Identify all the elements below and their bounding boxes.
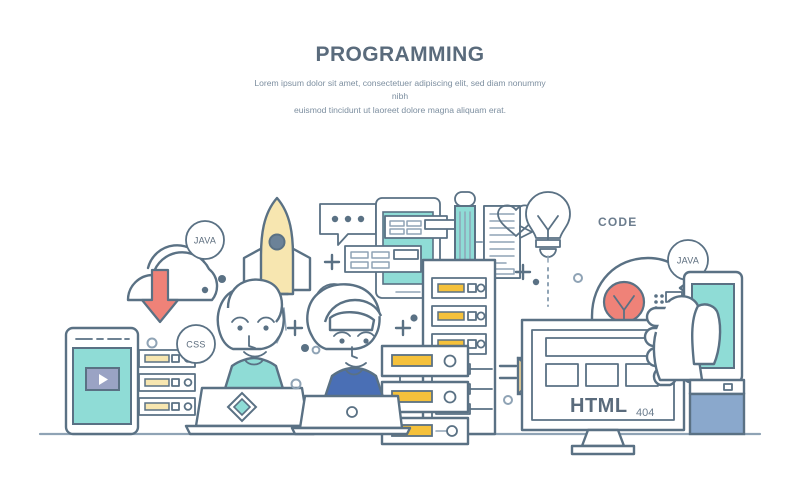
plus-decor-3 [288,321,302,335]
screen-html-label: HTML [570,395,628,417]
label-code: CODE [598,215,637,229]
laptop-right [292,396,410,434]
page-header: PROGRAMMING Lorem ipsum dolor sit amet, … [0,0,800,117]
tablet-video-player [66,328,138,434]
badge-java-right-label: JAVA [677,256,699,266]
illustration-page: PROGRAMMING Lorem ipsum dolor sit amet, … [0,0,800,503]
badge-css-left-label: CSS [186,340,205,350]
developer-person-right [307,284,384,400]
subtitle-line-1: Lorem ipsum dolor sit amet, consectetuer… [254,78,545,101]
dot-decor-4 [218,275,226,283]
badge-java-left: JAVA [186,221,224,259]
illustration-stage: .s { fill:none; stroke:#5a7184; stroke-w… [0,150,800,470]
dot-decor-8 [410,314,417,321]
plus-decor-4 [396,321,410,335]
dot-decor-6 [301,344,309,352]
badge-css-left: CSS [177,325,215,363]
dot-decor-2 [533,279,539,285]
subtitle-line-2: euismod tincidunt ut laoreet dolore magn… [294,105,506,115]
page-title: PROGRAMMING [0,0,800,65]
chat-bubble-icon [320,204,376,245]
screen-error-label: 404 [636,407,654,419]
download-arrow-icon [142,270,178,322]
dot-decor-9 [313,347,320,354]
developer-person-left [218,280,284,392]
dot-decor-3 [504,396,512,404]
dot-decor-10 [202,287,208,293]
dot-decor-5 [148,339,157,348]
page-subtitle: Lorem ipsum dolor sit amet, consectetuer… [250,77,550,117]
dot-decor-1 [574,274,582,282]
lightbulb-icon [526,192,570,306]
badge-java-left-label: JAVA [194,236,216,246]
plus-decor-1 [325,255,339,269]
